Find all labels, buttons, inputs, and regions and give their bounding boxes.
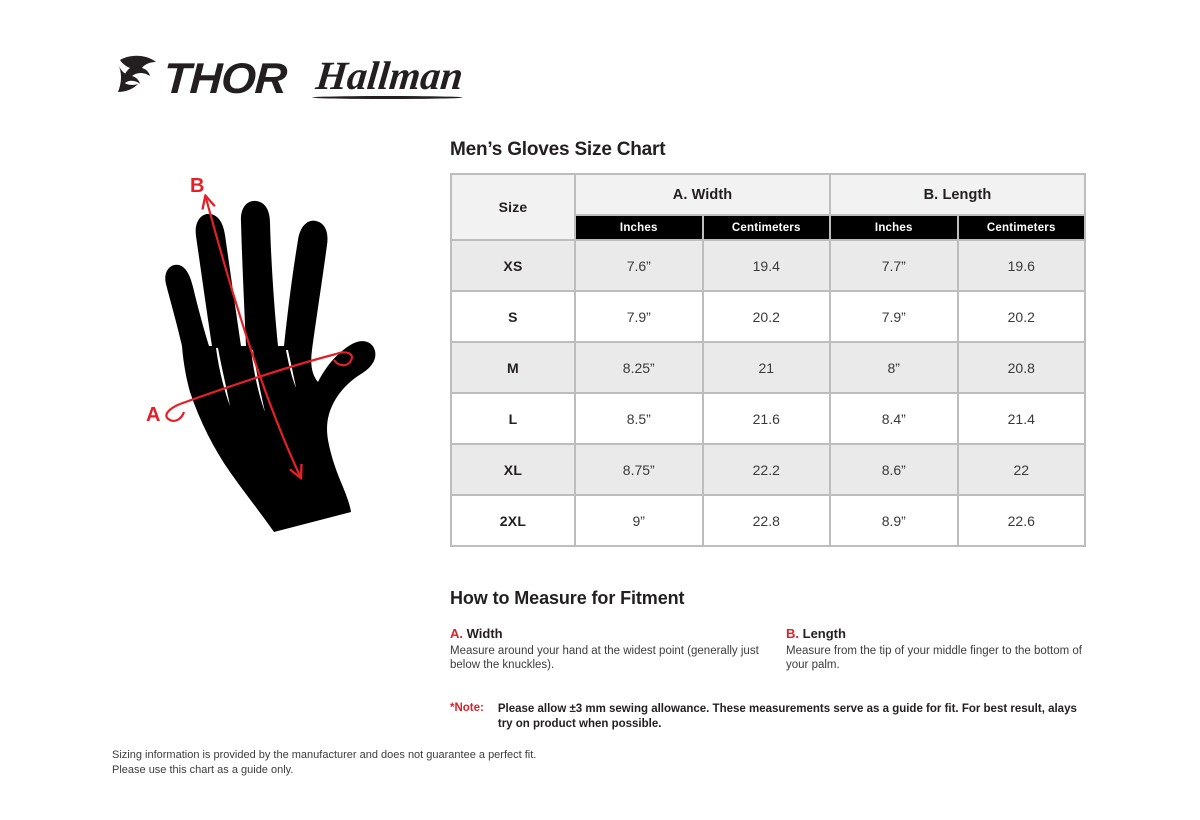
- measure-text-length: Measure from the tip of your middle fing…: [786, 644, 1106, 672]
- header-size: Size: [451, 174, 575, 240]
- diagram-label-b: B: [190, 175, 204, 197]
- header-width-inches: Inches: [575, 215, 703, 240]
- row-size: M: [451, 342, 575, 393]
- row-length-inches: 8”: [830, 342, 958, 393]
- table-row: S7.9”20.27.9”20.2: [451, 291, 1085, 342]
- row-length-inches: 8.6”: [830, 444, 958, 495]
- size-chart-table: Size A. Width B. Length Inches Centimete…: [450, 173, 1086, 547]
- row-length-centimeters: 22.6: [958, 495, 1086, 546]
- measure-name-width: Width: [467, 626, 503, 641]
- table-head: Size A. Width B. Length Inches Centimete…: [451, 174, 1085, 240]
- row-length-centimeters: 19.6: [958, 240, 1086, 291]
- hallman-logo: Hallman: [310, 56, 469, 100]
- table-row: M8.25”218”20.8: [451, 342, 1085, 393]
- footer-line-2: Please use this chart as a guide only.: [112, 763, 536, 778]
- thor-helmet-icon: [112, 50, 164, 107]
- row-width-centimeters: 20.2: [703, 291, 831, 342]
- header-group-width: A. Width: [575, 174, 830, 215]
- size-table-container: Size A. Width B. Length Inches Centimete…: [450, 173, 1086, 547]
- footer-line-1: Sizing information is provided by the ma…: [112, 748, 536, 763]
- table-body: XS7.6”19.47.7”19.6S7.9”20.27.9”20.2M8.25…: [451, 240, 1085, 546]
- row-width-centimeters: 22.8: [703, 495, 831, 546]
- thor-logo: THOR: [112, 50, 284, 107]
- row-width-inches: 8.75”: [575, 444, 703, 495]
- table-row: L8.5”21.68.4”21.4: [451, 393, 1085, 444]
- hand-silhouette: [165, 201, 375, 532]
- hand-measurement-diagram: B A: [120, 160, 430, 540]
- row-length-centimeters: 22: [958, 444, 1086, 495]
- howto-title: How to Measure for Fitment: [450, 588, 684, 609]
- row-size: S: [451, 291, 575, 342]
- row-width-centimeters: 19.4: [703, 240, 831, 291]
- thor-wordmark: THOR: [162, 58, 287, 101]
- measure-heading-length: B. Length: [786, 626, 1106, 641]
- row-width-centimeters: 21: [703, 342, 831, 393]
- row-size: XL: [451, 444, 575, 495]
- row-length-inches: 8.9”: [830, 495, 958, 546]
- measure-letter-a: A.: [450, 626, 463, 641]
- measure-text-width: Measure around your hand at the widest p…: [450, 644, 770, 672]
- row-size: 2XL: [451, 495, 575, 546]
- brand-header: THOR Hallman: [112, 48, 467, 108]
- measure-item-length: B. Length Measure from the tip of your m…: [786, 626, 1106, 672]
- row-length-inches: 8.4”: [830, 393, 958, 444]
- measure-heading-width: A. Width: [450, 626, 770, 641]
- row-length-centimeters: 20.8: [958, 342, 1086, 393]
- header-length-centimeters: Centimeters: [958, 215, 1086, 240]
- row-width-centimeters: 21.6: [703, 393, 831, 444]
- measure-item-width: A. Width Measure around your hand at the…: [450, 626, 770, 672]
- row-length-centimeters: 21.4: [958, 393, 1086, 444]
- row-length-centimeters: 20.2: [958, 291, 1086, 342]
- row-width-centimeters: 22.2: [703, 444, 831, 495]
- header-width-centimeters: Centimeters: [703, 215, 831, 240]
- diagram-label-a: A: [146, 404, 160, 426]
- note-label: *Note:: [450, 702, 484, 732]
- row-size: L: [451, 393, 575, 444]
- row-width-inches: 7.9”: [575, 291, 703, 342]
- header-group-length: B. Length: [830, 174, 1085, 215]
- row-size: XS: [451, 240, 575, 291]
- row-length-inches: 7.7”: [830, 240, 958, 291]
- row-width-inches: 8.25”: [575, 342, 703, 393]
- row-width-inches: 8.5”: [575, 393, 703, 444]
- size-chart-page: THOR Hallman B: [0, 0, 1200, 820]
- page-title: Men’s Gloves Size Chart: [450, 139, 665, 161]
- row-width-inches: 9”: [575, 495, 703, 546]
- measure-name-length: Length: [803, 626, 846, 641]
- table-header-row-groups: Size A. Width B. Length: [451, 174, 1085, 215]
- row-width-inches: 7.6”: [575, 240, 703, 291]
- note-text: Please allow ±3 mm sewing allowance. The…: [498, 702, 1090, 732]
- table-row: XL8.75”22.28.6”22: [451, 444, 1085, 495]
- note-row: *Note: Please allow ±3 mm sewing allowan…: [450, 702, 1090, 732]
- footer-disclaimer: Sizing information is provided by the ma…: [112, 748, 536, 778]
- measure-letter-b: B.: [786, 626, 799, 641]
- row-length-inches: 7.9”: [830, 291, 958, 342]
- table-row: XS7.6”19.47.7”19.6: [451, 240, 1085, 291]
- table-row: 2XL9”22.88.9”22.6: [451, 495, 1085, 546]
- header-length-inches: Inches: [830, 215, 958, 240]
